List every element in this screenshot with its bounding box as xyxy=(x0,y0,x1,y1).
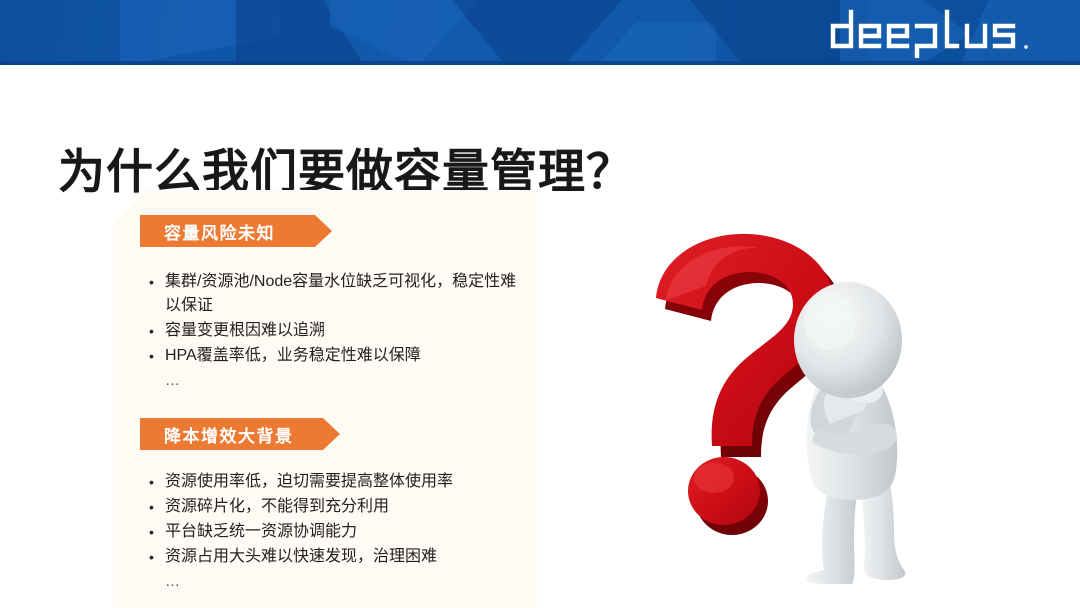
header-banner xyxy=(0,0,1080,65)
section-banner-cost-reduction: 降本增效大背景 xyxy=(140,418,340,450)
bullet-item: 容量变更根因难以追溯 xyxy=(148,319,520,343)
header-decor-shape-5 xyxy=(596,22,716,65)
bullet-list-cost-reduction: 资源使用率低，迫切需要提高整体使用率 资源碎片化，不能得到充分利用 平台缺乏统一… xyxy=(148,470,520,595)
bullet-item: 资源碎片化，不能得到充分利用 xyxy=(148,495,520,519)
bullet-item: HPA覆盖率低，业务稳定性难以保障 xyxy=(148,344,520,368)
bullet-item: 集群/资源池/Node容量水位缺乏可视化，稳定性难以保证 xyxy=(148,270,520,318)
section-banner-label: 容量风险未知 xyxy=(140,219,275,244)
bullet-item: 平台缺乏统一资源协调能力 xyxy=(148,520,520,544)
question-mark-illustration xyxy=(616,228,956,586)
header-decor-shape-4 xyxy=(452,0,622,65)
bullet-list-ellipsis: … xyxy=(148,369,520,393)
bullet-item: 资源使用率低，迫切需要提高整体使用率 xyxy=(148,470,520,494)
section-banner-capacity-risk: 容量风险未知 xyxy=(140,215,332,247)
header-underline xyxy=(0,61,1080,65)
section-banner-label: 降本增效大背景 xyxy=(140,422,294,447)
thinking-figure xyxy=(794,282,905,584)
bullet-list-capacity-risk: 集群/资源池/Node容量水位缺乏可视化，稳定性难以保证 容量变更根因难以追溯 … xyxy=(148,270,520,394)
bullet-list-ellipsis: … xyxy=(148,570,520,594)
bullet-item: 资源占用大头难以快速发现，治理困难 xyxy=(148,545,520,569)
deeplus-logo xyxy=(823,6,1058,58)
